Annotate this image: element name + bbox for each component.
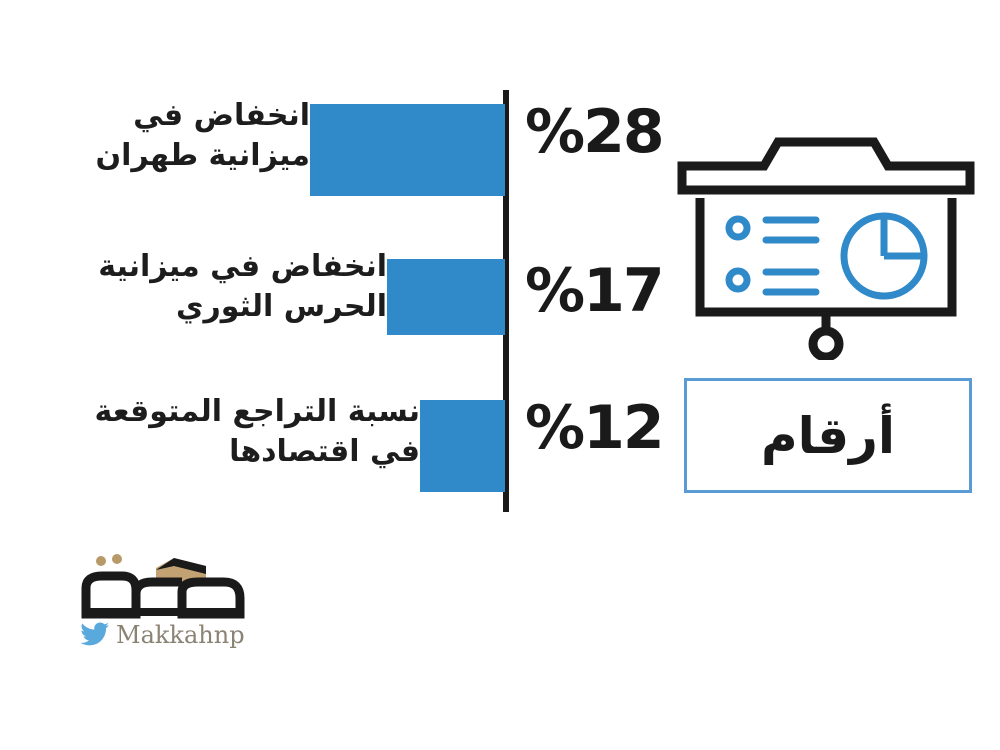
logo-dot xyxy=(96,556,106,566)
social-handle-text: Makkahnp xyxy=(116,623,245,647)
presentation-board-icon xyxy=(676,120,976,360)
bar-segment xyxy=(420,400,505,492)
caption-label: أرقام xyxy=(761,411,895,461)
bar-value-label: %12 xyxy=(525,398,663,458)
logo-baseline xyxy=(86,608,244,616)
bullet-ring-icon xyxy=(729,219,747,237)
bar-segment xyxy=(387,259,505,335)
social-handle[interactable]: Makkahnp xyxy=(80,622,245,648)
bullet-ring-icon xyxy=(729,271,747,289)
chart-row: نسبة التراجع المتوقعة في اقتصادها %12 xyxy=(0,392,660,512)
bar-category-label: انخفاض في ميزانية الحرس الثوري xyxy=(0,247,387,327)
board-top-rail xyxy=(682,142,970,190)
pull-cord-ring-icon xyxy=(813,331,839,357)
chart-row: انخفاض في ميزانية الحرس الثوري %17 xyxy=(0,247,660,367)
bar-category-label: نسبة التراجع المتوقعة في اقتصادها xyxy=(0,392,420,472)
logo-dot xyxy=(112,554,122,564)
caption-box: أرقام xyxy=(684,378,972,493)
twitter-bird-icon[interactable] xyxy=(80,622,110,648)
makkah-wordmark-icon xyxy=(78,548,258,620)
bar-value-label: %28 xyxy=(525,102,663,162)
chart-row: انخفاض في ميزانية طهران %28 xyxy=(0,96,660,216)
illustration-panel: أرقام xyxy=(672,120,984,500)
bar-value-label: %17 xyxy=(525,261,663,321)
publisher-logo: Makkahnp xyxy=(78,548,278,658)
bar-chart: انخفاض في ميزانية طهران %28 انخفاض في مي… xyxy=(0,0,660,540)
bar-category-label: انخفاض في ميزانية طهران xyxy=(0,96,310,176)
bar-segment xyxy=(310,104,505,196)
